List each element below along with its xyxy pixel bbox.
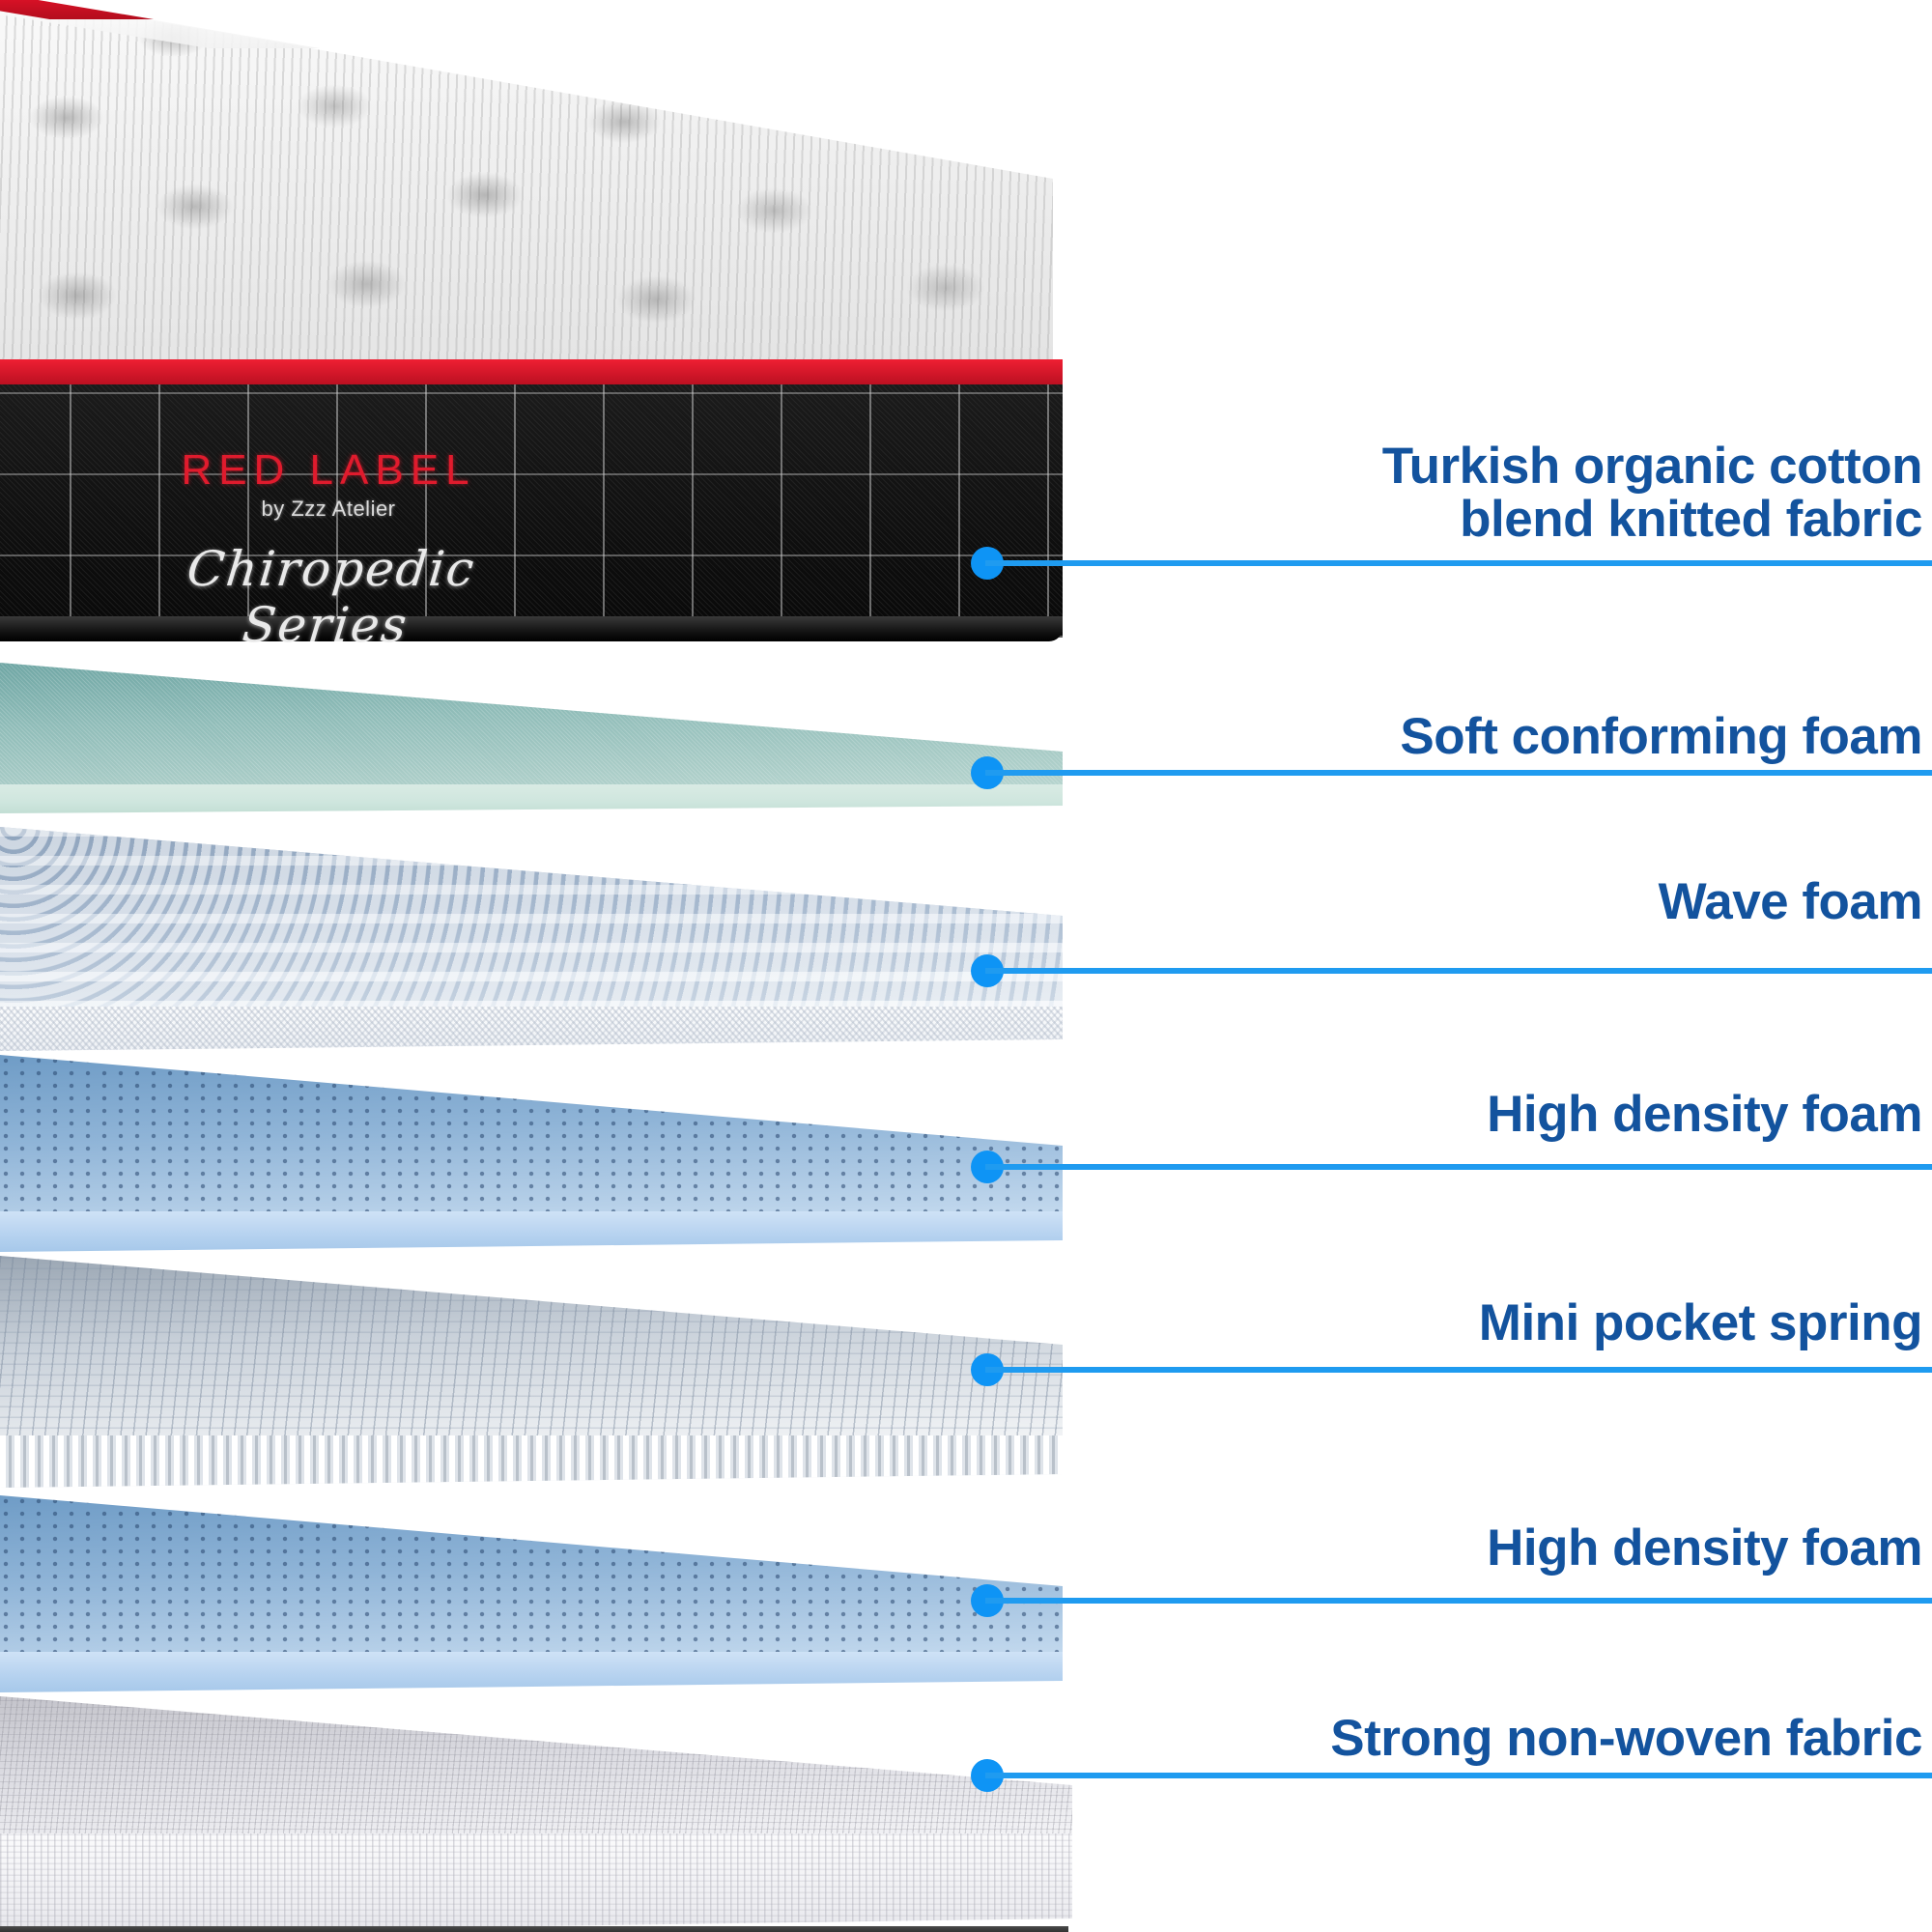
leader-line-wave-foam — [985, 968, 1932, 974]
high-density-foam-upper-front-edge — [0, 1211, 1063, 1252]
layer-strong-non-woven-fabric — [0, 1696, 1082, 1932]
non-woven-top-face — [0, 1696, 1072, 1836]
label-mini-pocket-spring: Mini pocket spring — [1479, 1296, 1922, 1350]
wave-foam-front-edge — [0, 1007, 1063, 1051]
label-high-density-foam-lower: High density foam — [1487, 1521, 1922, 1575]
quilted-top-surface — [0, 0, 1053, 377]
mattress-side-bottom-lip — [0, 616, 1063, 641]
soft-foam-front-edge — [0, 784, 1063, 813]
label-wave-foam: Wave foam — [1659, 875, 1922, 928]
leader-line-high-density-foam-lower — [985, 1598, 1932, 1604]
leader-line-high-density-foam-upper — [985, 1164, 1932, 1170]
high-density-foam-lower-front-edge — [0, 1652, 1063, 1692]
leader-line-soft-conforming-foam — [985, 770, 1932, 776]
layer-soft-conforming-foam — [0, 663, 1072, 817]
red-piping-top-icon — [0, 0, 1063, 19]
layer-mini-pocket-spring — [0, 1256, 1072, 1488]
wave-foam-top-face — [0, 827, 1063, 1010]
mini-pocket-spring-front-edge — [0, 1435, 1063, 1488]
leader-line-strong-non-woven-fabric — [985, 1773, 1932, 1778]
mattress-layer-diagram: RED LABEL by Zzz Atelier Chiropedic Seri… — [0, 0, 1932, 1932]
mattress-side-panel — [0, 384, 1063, 638]
soft-foam-top-face — [0, 663, 1063, 786]
high-density-foam-upper-top-face — [0, 1055, 1063, 1214]
layer-high-density-foam-lower — [0, 1495, 1072, 1689]
layer-high-density-foam-upper — [0, 1055, 1072, 1248]
mattress-base-shadow — [0, 1926, 1068, 1932]
non-woven-front-edge — [0, 1833, 1072, 1932]
label-cover: Turkish organic cotton blend knitted fab… — [1382, 440, 1922, 546]
mini-pocket-spring-top-face — [0, 1256, 1063, 1439]
label-soft-conforming-foam: Soft conforming foam — [1400, 710, 1922, 763]
high-density-foam-lower-top-face — [0, 1495, 1063, 1655]
label-high-density-foam-upper: High density foam — [1487, 1088, 1922, 1141]
layer-wave-foam — [0, 827, 1072, 1049]
label-strong-non-woven-fabric: Strong non-woven fabric — [1330, 1712, 1922, 1765]
mattress-cover-block: RED LABEL by Zzz Atelier Chiropedic Seri… — [0, 0, 1072, 657]
leader-line-mini-pocket-spring — [985, 1367, 1932, 1373]
leader-line-cover — [985, 560, 1932, 566]
